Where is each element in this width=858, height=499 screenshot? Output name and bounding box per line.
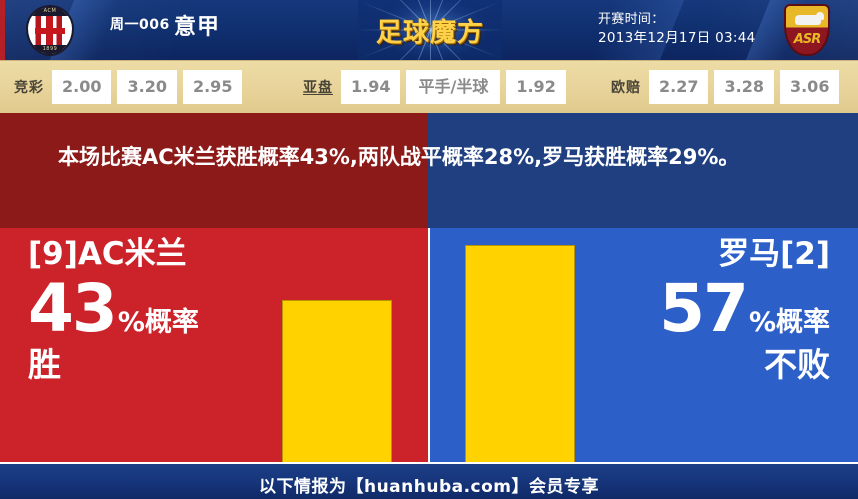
home-team-stats: [9]AC米兰 43 %概率 胜 <box>28 234 199 386</box>
match-prediction-graphic: ACM 1899 周一006 意甲 足球魔方 开赛时间： 2013年12月17日… <box>0 0 858 499</box>
crest-shield: ASR <box>784 4 830 56</box>
footer-notice: 以下情报为【huanhuba.com】会员专享 <box>0 472 858 497</box>
summary-band: 本场比赛AC米兰获胜概率43%,两队战平概率28%,罗马获胜概率29%。 <box>0 113 858 228</box>
away-probability-bar <box>465 245 575 462</box>
header-bar: ACM 1899 周一006 意甲 足球魔方 开赛时间： 2013年12月17日… <box>0 0 858 60</box>
home-team-panel: [9]AC米兰 43 %概率 胜 <box>0 228 428 462</box>
odds-group-jingcai: 竞彩 2.00 3.20 2.95 <box>14 70 242 104</box>
kickoff-info: 开赛时间： 2013年12月17日 03:44 <box>598 10 756 48</box>
odds-value-cell[interactable]: 2.27 <box>649 70 708 104</box>
as-roma-crest-icon: ASR <box>784 4 830 56</box>
brand-logo-text: 足球魔方 <box>358 12 502 49</box>
odds-value-cell[interactable]: 3.06 <box>780 70 839 104</box>
probability-panels: [9]AC米兰 43 %概率 胜 罗马[2] 57 %概率 不败 <box>0 228 858 462</box>
league-name: 意甲 <box>174 9 220 41</box>
footer-bar: 以下情报为【huanhuba.com】会员专享 <box>0 462 858 499</box>
odds-value-cell[interactable]: 3.20 <box>117 70 176 104</box>
odds-group-oupei: 欧赔 2.27 3.28 3.06 <box>611 70 839 104</box>
home-probability-suffix: %概率 <box>118 309 199 336</box>
odds-bar: 竞彩 2.00 3.20 2.95 亚盘 1.94 平手/半球 1.92 欧赔 … <box>0 60 858 114</box>
crest-wolf <box>795 15 821 25</box>
home-probability-line: 43 %概率 <box>28 276 199 342</box>
brand-logo: 足球魔方 <box>358 0 502 60</box>
odds-group-yapan: 亚盘 1.94 平手/半球 1.92 <box>303 70 566 104</box>
header-left-accent <box>0 0 5 60</box>
crest-top-band: ACM <box>28 7 72 16</box>
odds-value-cell[interactable]: 3.28 <box>714 70 773 104</box>
ac-milan-crest-icon: ACM 1899 <box>26 5 74 56</box>
kickoff-datetime: 2013年12月17日 03:44 <box>598 29 756 48</box>
home-probability-value: 43 <box>28 276 116 342</box>
summary-text: 本场比赛AC米兰获胜概率43%,两队战平概率28%,罗马获胜概率29%。 <box>58 140 798 174</box>
away-probability-line: 57 %概率 <box>659 276 830 342</box>
crest-cross-horizontal <box>35 28 65 34</box>
odds-value-cell[interactable]: 2.95 <box>183 70 242 104</box>
match-number: 周一006 <box>110 14 170 34</box>
crest-bottom-band: 1899 <box>28 45 72 54</box>
kickoff-label: 开赛时间： <box>598 10 756 29</box>
odds-group-title[interactable]: 亚盘 <box>303 77 333 97</box>
away-probability-suffix: %概率 <box>749 309 830 336</box>
crest-monogram: ASR <box>786 32 828 47</box>
odds-value-cell[interactable]: 1.92 <box>506 70 565 104</box>
odds-group-title: 竞彩 <box>14 77 44 97</box>
away-outcome-label: 不败 <box>659 344 830 386</box>
away-team-name: 罗马[2] <box>659 234 830 274</box>
home-probability-bar <box>282 300 392 462</box>
odds-handicap-cell[interactable]: 平手/半球 <box>406 70 500 104</box>
odds-group-title: 欧赔 <box>611 77 641 97</box>
away-probability-value: 57 <box>659 276 747 342</box>
away-team-stats: 罗马[2] 57 %概率 不败 <box>659 234 830 386</box>
odds-value-cell[interactable]: 2.00 <box>52 70 111 104</box>
home-outcome-label: 胜 <box>28 344 199 386</box>
away-team-panel: 罗马[2] 57 %概率 不败 <box>430 228 858 462</box>
home-team-name: [9]AC米兰 <box>28 234 199 274</box>
odds-value-cell[interactable]: 1.94 <box>341 70 400 104</box>
